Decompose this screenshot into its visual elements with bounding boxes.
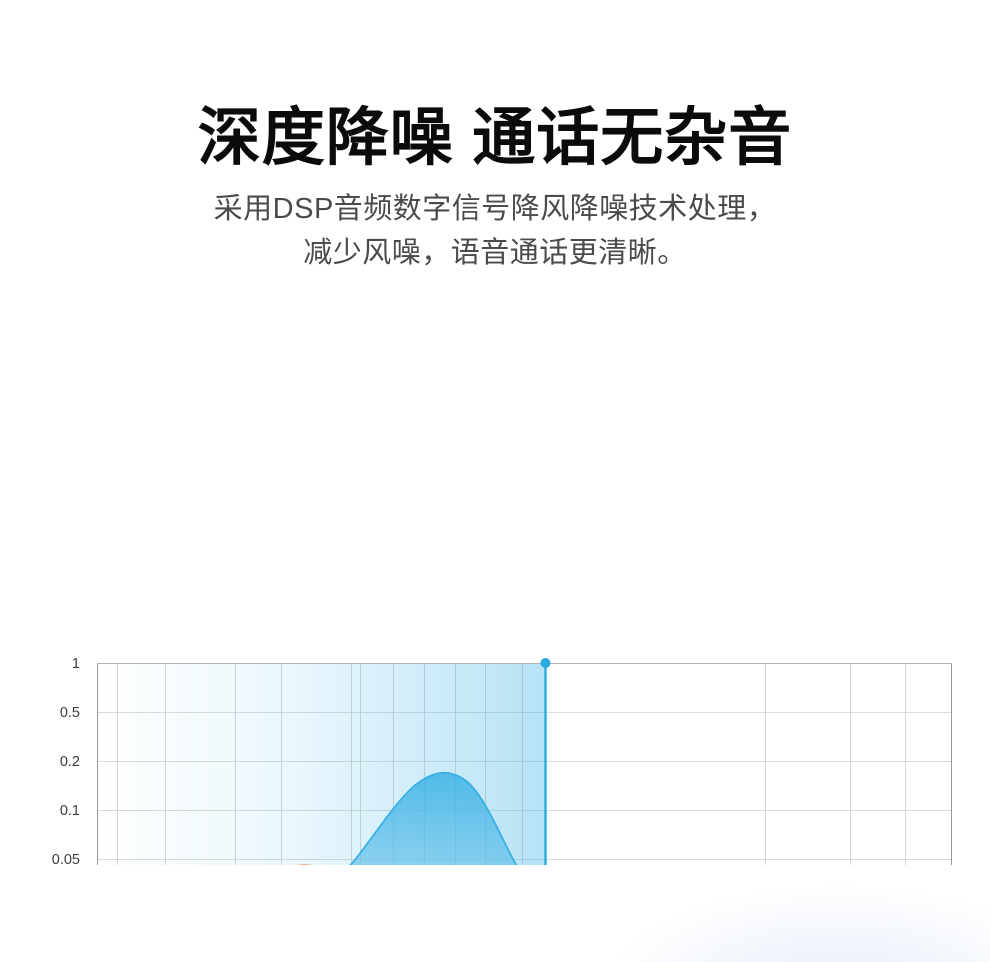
subtitle-line-2: 减少风噪，语音通话更清晰。 [0, 232, 990, 276]
page-title: 深度降噪 通话无杂音 [0, 0, 990, 172]
chart-svg: 1 0.5 0.2 0.1 0.05 0.02 0.001 0.005 0.00… [0, 320, 990, 865]
y-tick-label: 0.1 [60, 803, 80, 819]
y-axis-labels: 1 0.5 0.2 0.1 0.05 0.02 0.001 0.005 0.00… [36, 656, 80, 865]
y-tick-label: 0.5 [60, 705, 80, 721]
page-root: 深度降噪 通话无杂音 采用DSP音频数字信号降风降噪技术处理， 减少风噪，语音通… [0, 0, 990, 962]
divider-handle-top[interactable] [541, 658, 551, 668]
subtitle-line-1: 采用DSP音频数字信号降风降噪技术处理， [0, 188, 990, 232]
y-tick-label: 0.2 [60, 754, 80, 770]
noise-reduction-chart: 1 0.5 0.2 0.1 0.05 0.02 0.001 0.005 0.00… [0, 320, 990, 865]
y-tick-label: 0.05 [52, 852, 80, 865]
y-tick-label: 1 [72, 656, 80, 672]
hero-section: 深度降噪 通话无杂音 采用DSP音频数字信号降风降噪技术处理， 减少风噪，语音通… [0, 0, 990, 275]
page-subtitle: 采用DSP音频数字信号降风降噪技术处理， 减少风噪，语音通话更清晰。 [0, 172, 990, 275]
